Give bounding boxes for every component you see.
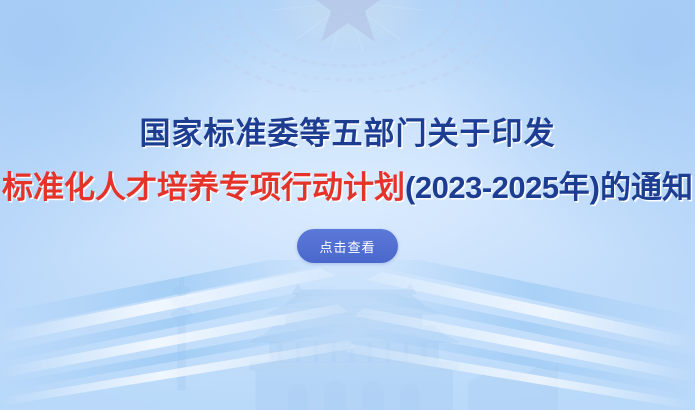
page-title-years: (2023-2025: [405, 170, 559, 205]
page-title-year-char: 年: [559, 170, 590, 205]
notice-banner: 国家标准委等五部门关于印发 标准化人才培养专项行动计划(2023-2025年)的…: [0, 0, 695, 410]
view-detail-button[interactable]: 点击查看: [297, 229, 398, 263]
banner-content: 国家标准委等五部门关于印发 标准化人才培养专项行动计划(2023-2025年)的…: [0, 0, 695, 410]
page-title-line-2: 标准化人才培养专项行动计划(2023-2025年)的通知: [2, 172, 693, 203]
page-title-line-1: 国家标准委等五部门关于印发: [140, 118, 556, 149]
page-title-plan-name: 标准化人才培养专项行动计划: [2, 170, 405, 205]
page-title-suffix: )的通知: [590, 170, 693, 205]
